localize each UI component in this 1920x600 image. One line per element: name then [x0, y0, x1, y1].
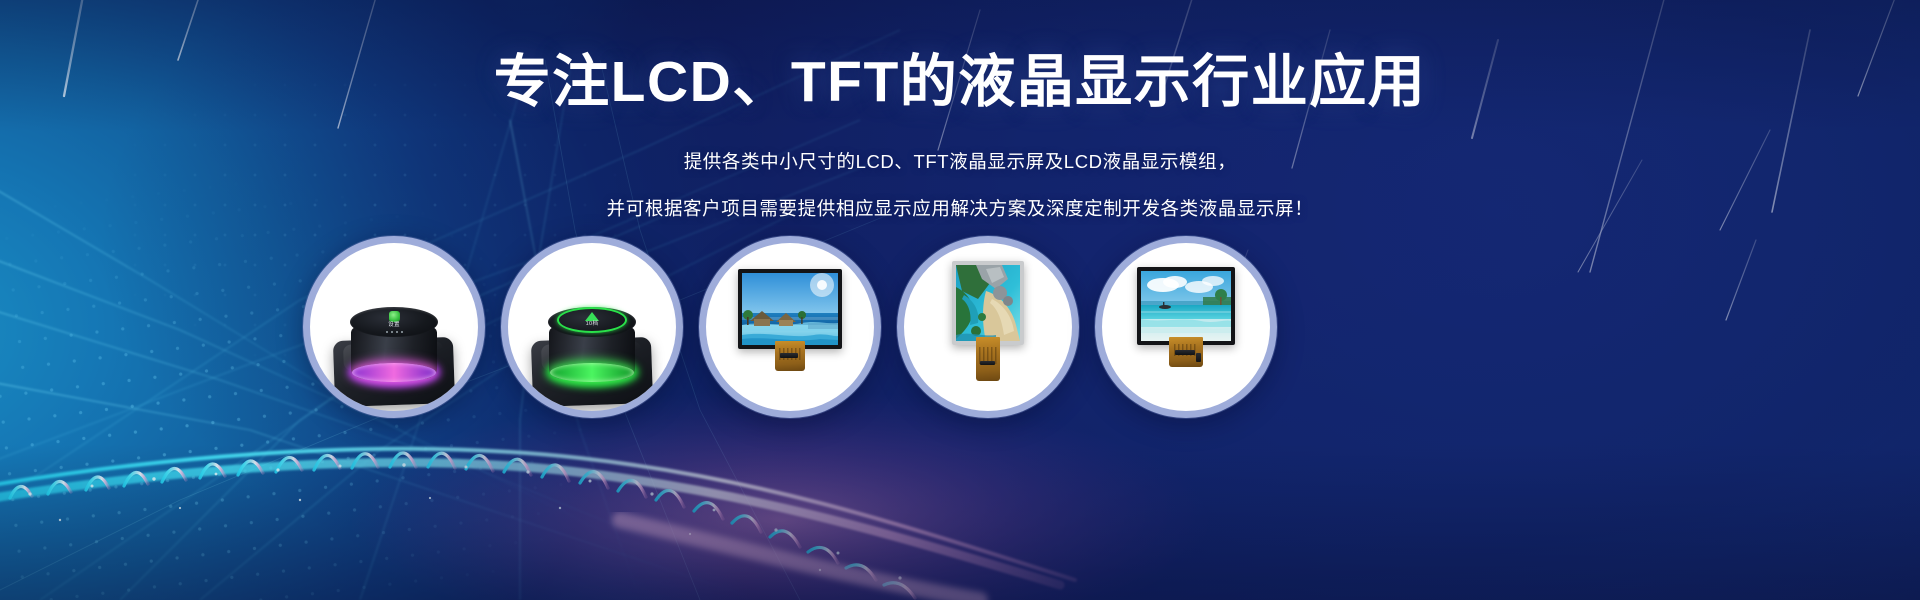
driver-chip	[1175, 350, 1195, 355]
panel-bezel	[952, 261, 1024, 345]
speaker-led-ring	[550, 363, 634, 382]
tft-lcd-panel-landscape-resort	[706, 243, 874, 411]
panel-flex-cable	[976, 337, 1000, 381]
panel-flex-cable	[1169, 337, 1203, 367]
banner-copy: 专注LCD、TFT的液晶显示行业应用 提供各类中小尺寸的LCD、TFT液晶显示屏…	[0, 52, 1920, 221]
round-smart-speaker-green: 10档	[508, 243, 676, 411]
product-circle-2[interactable]: 10档	[501, 236, 683, 418]
settings-badge-icon	[389, 311, 400, 322]
driver-chip	[780, 353, 798, 358]
speaker-face-label: 设置	[388, 323, 400, 329]
product-circle-3[interactable]	[699, 236, 881, 418]
speaker-face-label: 10档	[586, 322, 599, 328]
panel-bezel	[738, 269, 842, 349]
driver-chip	[980, 361, 995, 365]
speaker-indicator-dots	[386, 331, 403, 333]
tft-lcd-panel-square-coastline	[904, 243, 1072, 411]
panel-screen-image	[742, 273, 838, 345]
speaker-display-face: 10档	[557, 307, 627, 333]
panel-bezel	[1137, 267, 1235, 345]
lcd-panel	[738, 269, 842, 349]
round-smart-speaker-purple: 设置	[310, 243, 478, 411]
page-title: 专注LCD、TFT的液晶显示行业应用	[0, 52, 1920, 114]
panel-screen-image	[956, 265, 1020, 341]
subtitle-line-2: 并可根据客户项目需要提供相应显示应用解决方案及深度定制开发各类液晶显示屏！	[0, 195, 1920, 221]
speaker-display-face: 设置	[361, 311, 427, 333]
hero-banner: 专注LCD、TFT的液晶显示行业应用 提供各类中小尺寸的LCD、TFT液晶显示屏…	[0, 0, 1920, 600]
connector-chip	[1196, 353, 1201, 362]
product-circle-4[interactable]	[897, 236, 1079, 418]
lcd-panel	[1137, 267, 1235, 345]
product-circle-1[interactable]: 设置	[303, 236, 485, 418]
speaker-led-ring	[352, 363, 436, 382]
tft-lcd-panel-landscape-beach	[1102, 243, 1270, 411]
lcd-panel	[952, 261, 1024, 345]
panel-flex-cable	[775, 341, 805, 371]
product-circle-5[interactable]	[1095, 236, 1277, 418]
panel-screen-image	[1141, 271, 1231, 341]
up-arrow-icon	[585, 312, 599, 321]
subtitle-line-1: 提供各类中小尺寸的LCD、TFT液晶显示屏及LCD液晶显示模组，	[0, 148, 1920, 174]
